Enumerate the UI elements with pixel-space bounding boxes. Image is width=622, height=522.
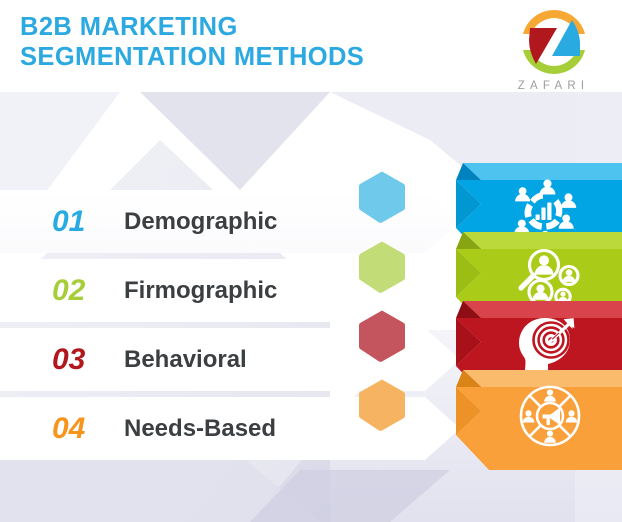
page-title-line-2: SEGMENTATION METHODS xyxy=(20,43,460,73)
infographic-canvas: 01 Demographic 02 Firmographic 03 Behavi… xyxy=(0,0,622,522)
brand-logo[interactable]: ZAFARI xyxy=(496,8,606,104)
page-title-line-1: B2B MARKETING xyxy=(20,13,460,43)
page-title: B2B MARKETING SEGMENTATION METHODS xyxy=(20,13,460,73)
zafari-wordmark: ZAFARI xyxy=(496,80,606,92)
zafari-logo-mark xyxy=(520,8,588,76)
ribbon-shape xyxy=(443,370,622,485)
header: B2B MARKETING SEGMENTATION METHODS ZAFAR… xyxy=(0,0,622,92)
ribbon-banner-needs-based[interactable] xyxy=(443,370,622,485)
